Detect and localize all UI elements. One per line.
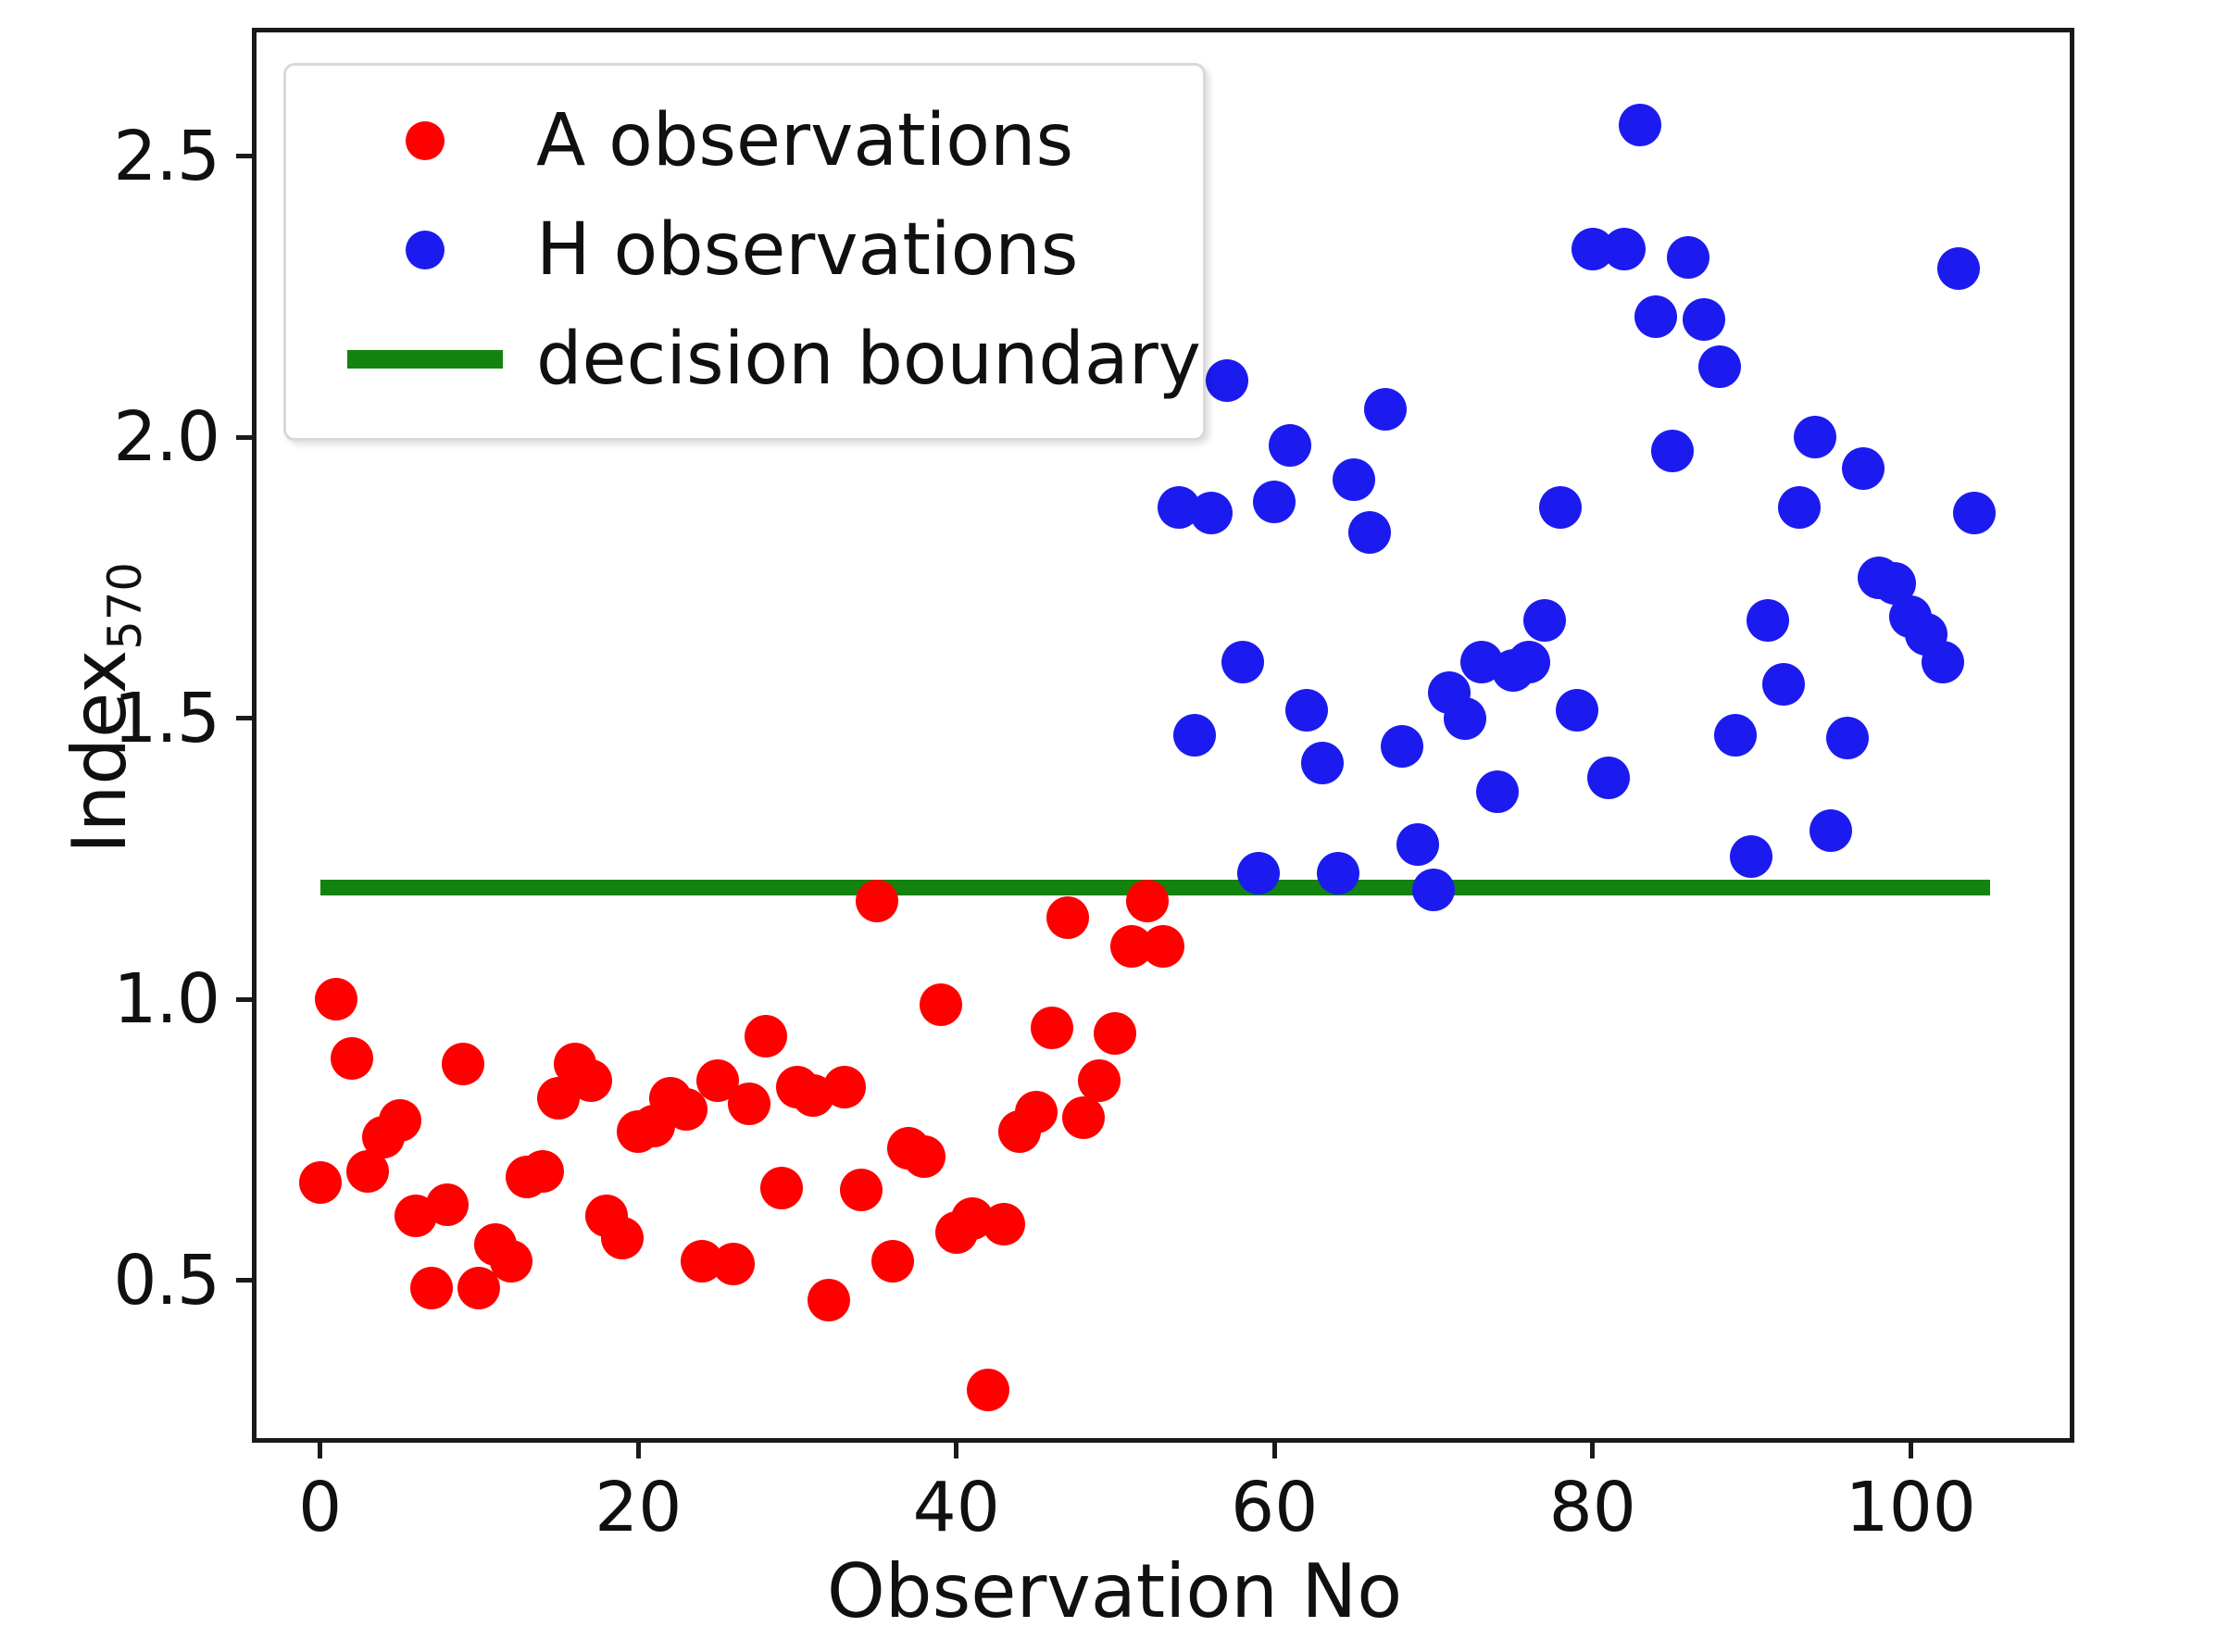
data-point	[1619, 104, 1661, 146]
y-tick-label: 1.5	[0, 679, 219, 758]
data-point	[1762, 663, 1805, 706]
data-point	[1842, 447, 1885, 490]
data-point	[728, 1083, 770, 1125]
blue-dot-icon	[406, 231, 445, 269]
data-point	[1062, 1096, 1105, 1139]
data-point	[1683, 298, 1725, 341]
data-point	[1046, 896, 1089, 939]
data-point	[808, 1279, 850, 1321]
legend-key-a	[314, 121, 536, 160]
data-point	[871, 1240, 914, 1283]
x-tick-label: 20	[595, 1468, 682, 1547]
data-point	[1953, 492, 1996, 534]
data-point	[1714, 714, 1757, 757]
legend: A observations H observations decision b…	[283, 63, 1206, 441]
legend-key-h	[314, 231, 536, 269]
data-point	[1078, 1059, 1121, 1102]
data-point	[1698, 345, 1741, 388]
data-point	[1333, 458, 1375, 501]
data-point	[1587, 757, 1630, 799]
y-tick-label: 1.0	[0, 959, 219, 1039]
data-point	[1556, 689, 1598, 732]
data-point	[1173, 714, 1216, 757]
data-point	[1922, 641, 1964, 683]
chart-canvas: Index570 0.51.01.52.02.5 020406080100 A …	[0, 0, 2229, 1652]
data-point	[442, 1043, 484, 1085]
data-point	[967, 1369, 1009, 1411]
y-axis-label-subscript: 570	[98, 562, 152, 650]
legend-label-a: A observations	[536, 105, 1073, 177]
data-point	[1603, 228, 1646, 270]
data-point	[823, 1066, 866, 1108]
data-point	[521, 1150, 564, 1193]
data-point	[1381, 725, 1423, 768]
green-line-icon	[347, 350, 503, 369]
data-point	[1634, 295, 1677, 338]
x-axis-label: Observation No	[0, 1548, 2229, 1634]
data-point	[920, 983, 962, 1026]
data-point	[840, 1169, 883, 1211]
data-point	[903, 1135, 945, 1178]
data-point	[1809, 809, 1852, 852]
legend-label-h: H observations	[536, 214, 1078, 286]
data-point	[601, 1217, 644, 1259]
data-point	[1730, 835, 1772, 878]
data-point	[1126, 880, 1169, 922]
data-point	[1221, 641, 1264, 683]
legend-item-h-observations: H observations	[314, 195, 1175, 305]
data-point	[983, 1203, 1025, 1245]
data-point	[490, 1240, 532, 1283]
data-point	[1508, 641, 1550, 683]
y-tick-label: 2.5	[0, 117, 219, 196]
data-point	[1667, 236, 1709, 279]
legend-key-boundary	[314, 350, 536, 369]
data-point	[1364, 388, 1407, 431]
data-point	[1301, 742, 1344, 784]
legend-label-boundary: decision boundary	[536, 323, 1201, 395]
data-point	[299, 1161, 342, 1204]
data-point	[1094, 1012, 1136, 1055]
data-point	[1778, 486, 1821, 529]
data-point	[1269, 424, 1311, 467]
data-point	[1794, 416, 1836, 458]
legend-item-a-observations: A observations	[314, 86, 1175, 195]
data-point	[426, 1183, 469, 1226]
data-point	[1253, 481, 1296, 523]
data-point	[745, 1015, 787, 1058]
x-tick-label: 40	[913, 1468, 1000, 1547]
data-point	[1237, 852, 1280, 895]
y-tick-label: 0.5	[0, 1241, 219, 1320]
data-point	[1476, 770, 1519, 813]
data-point	[1444, 697, 1486, 740]
data-point	[315, 978, 357, 1020]
data-point	[379, 1099, 421, 1142]
data-point	[1317, 852, 1359, 895]
data-point	[1015, 1091, 1058, 1133]
data-point	[1396, 823, 1439, 866]
data-point	[570, 1059, 612, 1102]
data-point	[1190, 492, 1233, 534]
data-point	[1412, 869, 1455, 911]
data-point	[1651, 430, 1694, 472]
y-tick-label: 2.0	[0, 397, 219, 477]
data-point	[1142, 925, 1184, 968]
data-point	[1285, 689, 1328, 732]
legend-item-decision-boundary: decision boundary	[314, 305, 1175, 414]
x-tick-label: 80	[1549, 1468, 1636, 1547]
data-point	[1539, 486, 1582, 529]
data-point	[410, 1267, 453, 1309]
data-point	[1937, 247, 1980, 290]
data-point	[1206, 359, 1248, 402]
data-point	[1348, 511, 1391, 554]
data-point	[856, 880, 898, 922]
red-dot-icon	[406, 121, 445, 160]
data-point	[331, 1037, 373, 1080]
data-point	[1523, 599, 1566, 642]
x-tick-label: 60	[1231, 1468, 1318, 1547]
data-point	[1747, 599, 1789, 642]
data-point	[1826, 717, 1869, 759]
x-tick-label: 0	[298, 1468, 342, 1547]
data-point	[1031, 1007, 1073, 1049]
data-point	[712, 1243, 755, 1285]
data-point	[760, 1167, 803, 1209]
x-tick-label: 100	[1846, 1468, 1976, 1547]
